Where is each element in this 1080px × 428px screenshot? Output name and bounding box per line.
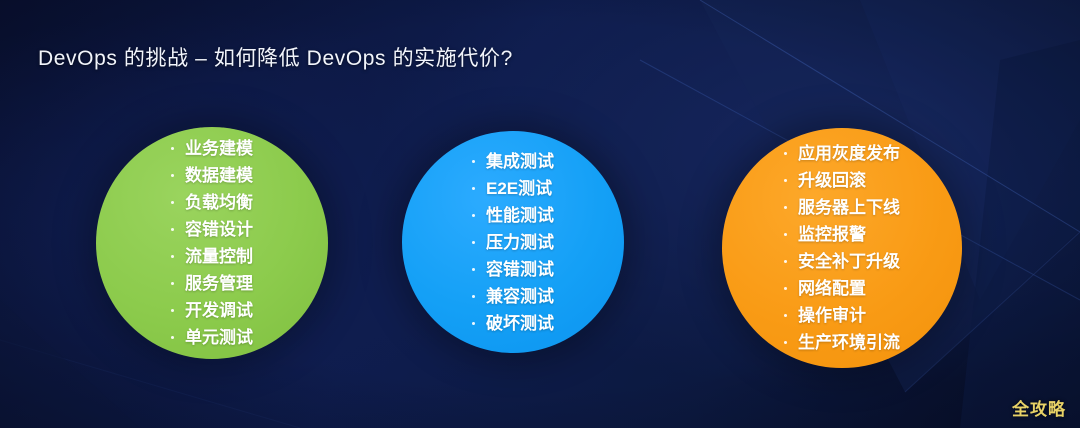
bullet-dot-icon xyxy=(784,341,787,344)
list-item: 破坏测试 xyxy=(472,310,554,337)
list-item: 容错测试 xyxy=(472,256,554,283)
list-item: 服务器上下线 xyxy=(784,194,900,221)
list-item-label: 安全补丁升级 xyxy=(798,248,900,275)
list-item-label: 压力测试 xyxy=(486,229,554,256)
list-item: 安全补丁升级 xyxy=(784,248,900,275)
list-item: 操作审计 xyxy=(784,302,900,329)
list-item: 集成测试 xyxy=(472,148,554,175)
bullet-dot-icon xyxy=(171,336,174,339)
development-circle[interactable]: 业务建模 数据建模 负载均衡 容错设计 流量控制 服务管理 开发调试 单元测试 xyxy=(96,127,328,359)
list-item-label: 生产环境引流 xyxy=(798,329,900,356)
list-item: 开发调试 xyxy=(171,297,253,324)
list-item: 压力测试 xyxy=(472,229,554,256)
slide-canvas: DevOps 的挑战 – 如何降低 DevOps 的实施代价? 业务建模 数据建… xyxy=(0,0,1080,428)
bullet-dot-icon xyxy=(171,228,174,231)
bullet-dot-icon xyxy=(171,282,174,285)
list-item-label: 性能测试 xyxy=(486,202,554,229)
list-item-label: 兼容测试 xyxy=(486,283,554,310)
list-item: 兼容测试 xyxy=(472,283,554,310)
bullet-dot-icon xyxy=(472,214,475,217)
list-item: 网络配置 xyxy=(784,275,900,302)
watermark: 全攻略 xyxy=(1012,395,1066,420)
list-item: 业务建模 xyxy=(171,135,253,162)
bullet-dot-icon xyxy=(171,147,174,150)
list-item: E2E测试 xyxy=(472,175,554,202)
bullet-dot-icon xyxy=(171,255,174,258)
bullet-dot-icon xyxy=(171,309,174,312)
list-item-label: 破坏测试 xyxy=(486,310,554,337)
list-item-label: 应用灰度发布 xyxy=(798,140,900,167)
operations-item-list: 应用灰度发布 升级回滚 服务器上下线 监控报警 安全补丁升级 网络配置 操作审计… xyxy=(784,140,900,356)
bullet-dot-icon xyxy=(472,295,475,298)
bullet-dot-icon xyxy=(171,201,174,204)
bullet-dot-icon xyxy=(472,268,475,271)
bullet-dot-icon xyxy=(784,206,787,209)
list-item: 负载均衡 xyxy=(171,189,253,216)
testing-circle[interactable]: 集成测试 E2E测试 性能测试 压力测试 容错测试 兼容测试 破坏测试 xyxy=(402,131,624,353)
list-item-label: 开发调试 xyxy=(185,297,253,324)
testing-item-list: 集成测试 E2E测试 性能测试 压力测试 容错测试 兼容测试 破坏测试 xyxy=(472,148,554,337)
list-item: 监控报警 xyxy=(784,221,900,248)
list-item-label: 容错设计 xyxy=(185,216,253,243)
list-item-label: 流量控制 xyxy=(185,243,253,270)
list-item: 容错设计 xyxy=(171,216,253,243)
list-item: 生产环境引流 xyxy=(784,329,900,356)
bullet-dot-icon xyxy=(171,174,174,177)
bullet-dot-icon xyxy=(784,287,787,290)
list-item: 单元测试 xyxy=(171,324,253,351)
bullet-dot-icon xyxy=(784,233,787,236)
list-item: 服务管理 xyxy=(171,270,253,297)
development-item-list: 业务建模 数据建模 负载均衡 容错设计 流量控制 服务管理 开发调试 单元测试 xyxy=(171,135,253,351)
bullet-dot-icon xyxy=(784,314,787,317)
list-item: 性能测试 xyxy=(472,202,554,229)
bullet-dot-icon xyxy=(784,152,787,155)
list-item: 应用灰度发布 xyxy=(784,140,900,167)
list-item: 升级回滚 xyxy=(784,167,900,194)
list-item-label: 容错测试 xyxy=(486,256,554,283)
bullet-dot-icon xyxy=(472,322,475,325)
page-title: DevOps 的挑战 – 如何降低 DevOps 的实施代价? xyxy=(38,42,513,72)
operations-circle[interactable]: 应用灰度发布 升级回滚 服务器上下线 监控报警 安全补丁升级 网络配置 操作审计… xyxy=(722,128,962,368)
list-item-label: 数据建模 xyxy=(185,162,253,189)
list-item: 流量控制 xyxy=(171,243,253,270)
list-item-label: 服务管理 xyxy=(185,270,253,297)
list-item-label: 网络配置 xyxy=(798,275,866,302)
bullet-dot-icon xyxy=(784,260,787,263)
list-item-label: 单元测试 xyxy=(185,324,253,351)
list-item-label: 集成测试 xyxy=(486,148,554,175)
list-item-label: E2E测试 xyxy=(486,175,552,202)
bullet-dot-icon xyxy=(472,160,475,163)
list-item-label: 负载均衡 xyxy=(185,189,253,216)
bullet-dot-icon xyxy=(472,241,475,244)
list-item-label: 监控报警 xyxy=(798,221,866,248)
list-item-label: 升级回滚 xyxy=(798,167,866,194)
list-item: 数据建模 xyxy=(171,162,253,189)
bullet-dot-icon xyxy=(784,179,787,182)
bullet-dot-icon xyxy=(472,187,475,190)
list-item-label: 服务器上下线 xyxy=(798,194,900,221)
list-item-label: 业务建模 xyxy=(185,135,253,162)
list-item-label: 操作审计 xyxy=(798,302,866,329)
